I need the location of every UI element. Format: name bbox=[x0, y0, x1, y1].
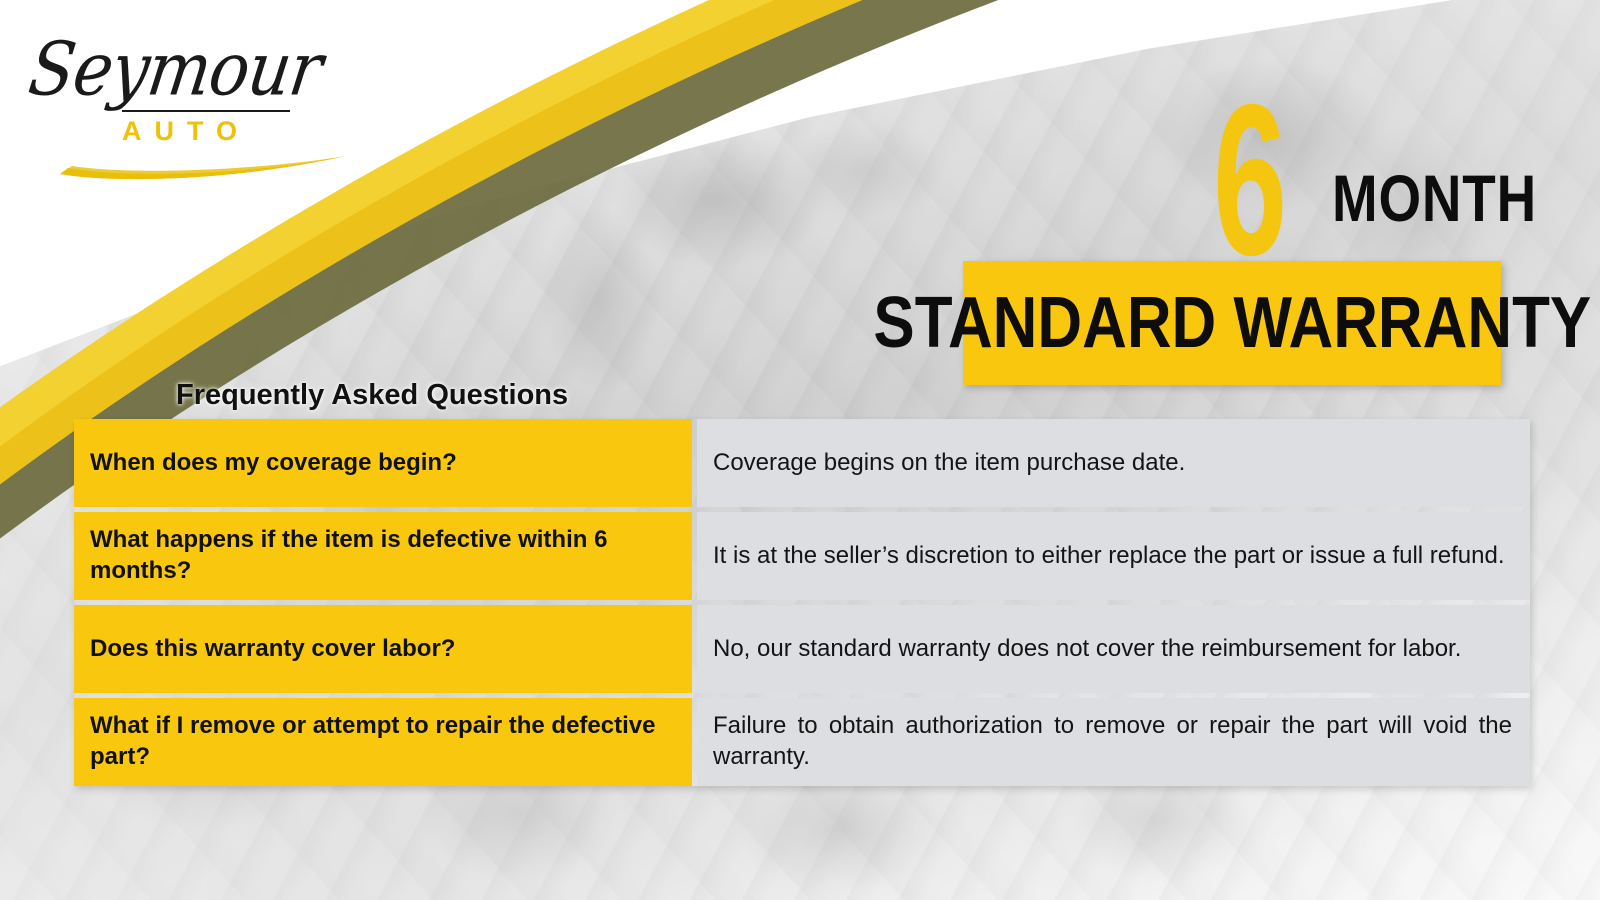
faq-answer-text: No, our standard warranty does not cover… bbox=[713, 634, 1512, 665]
faq-question-text: What if I remove or attempt to repair th… bbox=[90, 711, 674, 772]
warranty-term-unit: MONTH bbox=[1332, 165, 1537, 231]
logo-auto-text: AUTO bbox=[122, 116, 250, 147]
faq-question-cell: When does my coverage begin? bbox=[74, 419, 692, 507]
table-row: Does this warranty cover labor? No, our … bbox=[74, 605, 1530, 693]
faq-heading: Frequently Asked Questions bbox=[176, 379, 568, 412]
faq-answer-cell: It is at the seller’s discretion to eith… bbox=[697, 512, 1530, 600]
faq-answer-cell: Failure to obtain authorization to remov… bbox=[697, 698, 1530, 786]
table-row: When does my coverage begin? Coverage be… bbox=[74, 419, 1530, 507]
faq-question-text: Does this warranty cover labor? bbox=[90, 634, 455, 665]
table-row: What if I remove or attempt to repair th… bbox=[74, 698, 1530, 786]
faq-answer-cell: No, our standard warranty does not cover… bbox=[697, 605, 1530, 693]
faq-question-cell: What happens if the item is defective wi… bbox=[74, 512, 692, 600]
logo-underline-rule bbox=[122, 110, 290, 112]
table-row: What happens if the item is defective wi… bbox=[74, 512, 1530, 600]
seymour-auto-logo: Seymour AUTO bbox=[30, 22, 330, 172]
faq-answer-text: Coverage begins on the item purchase dat… bbox=[713, 448, 1512, 479]
logo-script-text: Seymour bbox=[24, 26, 327, 112]
faq-answer-text: It is at the seller’s discretion to eith… bbox=[713, 541, 1512, 572]
warranty-slide: Seymour AUTO 6 MONTH STANDARD WARRANTY F… bbox=[0, 0, 1600, 900]
faq-question-text: When does my coverage begin? bbox=[90, 448, 457, 479]
standard-warranty-label: STANDARD WARRANTY bbox=[873, 287, 1591, 359]
faq-table: When does my coverage begin? Coverage be… bbox=[74, 419, 1530, 786]
standard-warranty-banner: STANDARD WARRANTY bbox=[963, 261, 1501, 385]
faq-question-cell: Does this warranty cover labor? bbox=[74, 605, 692, 693]
faq-question-cell: What if I remove or attempt to repair th… bbox=[74, 698, 692, 786]
logo-swoosh-icon bbox=[58, 150, 350, 184]
faq-question-text: What happens if the item is defective wi… bbox=[90, 525, 674, 586]
faq-answer-cell: Coverage begins on the item purchase dat… bbox=[697, 419, 1530, 507]
warranty-term-number: 6 bbox=[1213, 72, 1285, 287]
faq-answer-text: Failure to obtain authorization to remov… bbox=[713, 711, 1512, 772]
